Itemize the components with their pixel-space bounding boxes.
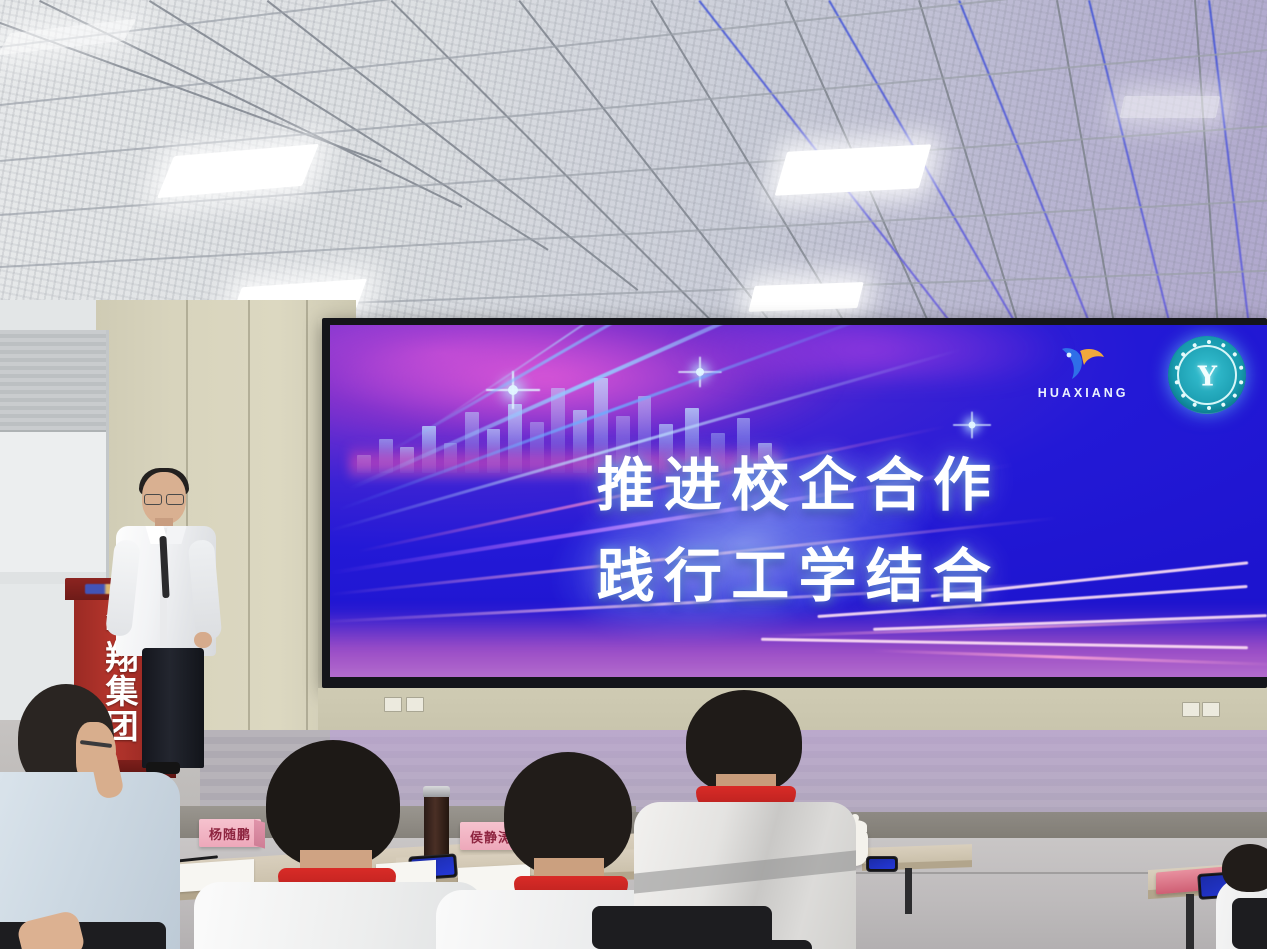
- smartphone-back-screen: [869, 859, 895, 869]
- eyeglasses-icon: [144, 494, 184, 503]
- roller-shade[interactable]: [0, 330, 106, 432]
- emblem-ring-dot-4: [1239, 366, 1244, 371]
- emblem-ring-dot-13: [1181, 352, 1187, 358]
- table-leg-back-right: [905, 868, 912, 914]
- speaker-hand: [194, 632, 212, 648]
- power-outlet-1[interactable]: [384, 697, 402, 712]
- sparkle-star-1: [508, 385, 518, 395]
- screen-headline-line1: 推进校企合作: [330, 438, 1267, 522]
- huaxiang-wordmark: HUAXIANG: [1035, 386, 1131, 400]
- power-outlet-4[interactable]: [1202, 702, 1220, 717]
- emblem-ring-dot-10: [1181, 393, 1187, 399]
- led-video-wall[interactable]: 推进校企合作 践行工学结合 HUAXIANG Y: [322, 318, 1267, 688]
- screen-headline-line2: 践行工学结合: [330, 529, 1267, 613]
- ceiling-light-6: [1120, 96, 1221, 118]
- huaxiang-dolphin-icon: [1056, 343, 1110, 383]
- attendee-center-left-head: [266, 740, 400, 868]
- emblem-ring-dot-8: [1207, 406, 1211, 410]
- attendee-left-glasses: [0, 684, 200, 949]
- power-outlet-3[interactable]: [1182, 702, 1200, 717]
- power-outlet-2[interactable]: [406, 697, 424, 712]
- school-emblem-glyph: Y: [1198, 361, 1217, 392]
- emblem-ring-dot-7: [1221, 402, 1226, 407]
- wall-seam-2: [248, 300, 250, 770]
- emblem-ring-dot-3: [1232, 352, 1238, 358]
- emblem-ring-dot-5: [1239, 380, 1244, 385]
- emblem-ring-dot-11: [1175, 380, 1180, 385]
- table-leg-right: [1186, 894, 1194, 949]
- led-screen-surface: 推进校企合作 践行工学结合 HUAXIANG Y: [330, 325, 1267, 677]
- conference-hall-photo: 推进校企合作 践行工学结合 HUAXIANG Y: [0, 0, 1267, 949]
- smartphone-back[interactable]: [866, 856, 898, 872]
- wall-seam-3: [306, 300, 308, 770]
- chair-back-center: [592, 906, 772, 949]
- nameplate-left-text: 杨随鹏: [209, 824, 251, 843]
- emblem-ring-dot-2: [1221, 343, 1226, 348]
- ceiling-light-3: [775, 144, 932, 195]
- ceiling: [0, 0, 1267, 340]
- attendee-far-right-head: [1222, 844, 1267, 892]
- emblem-ring-dot-9: [1192, 402, 1197, 407]
- school-emblem: Y: [1168, 336, 1246, 414]
- chair-back-right: [1232, 898, 1267, 949]
- emblem-ring-dot-12: [1175, 366, 1180, 371]
- emblem-ring-dot-14: [1192, 343, 1197, 348]
- ceiling-light-4: [748, 282, 863, 312]
- screen-bottom-glow: [330, 607, 1267, 677]
- emblem-ring-dot-1: [1207, 340, 1211, 344]
- attendee-center-left: [252, 740, 452, 949]
- emblem-ring-dot-6: [1232, 393, 1238, 399]
- huaxiang-logo: HUAXIANG: [1035, 343, 1131, 400]
